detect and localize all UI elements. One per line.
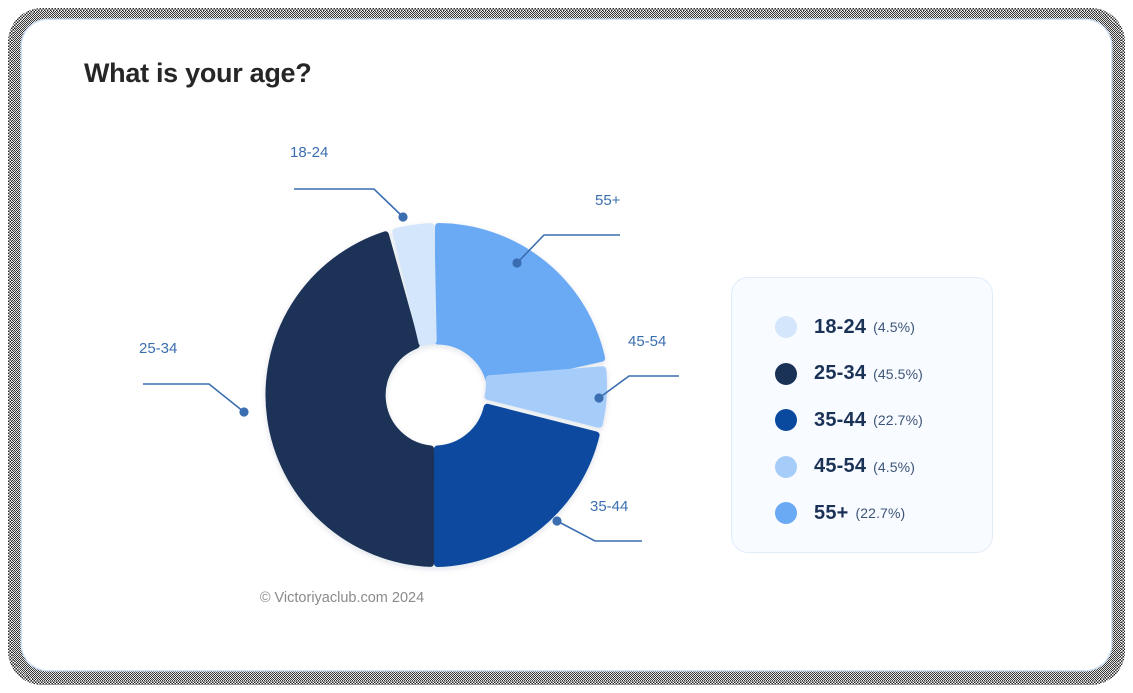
legend-swatch-icon <box>775 409 797 431</box>
legend-label: 25-34 <box>814 362 866 385</box>
legend-item-25-34[interactable]: 25-34 (45.5%) <box>732 351 992 398</box>
slice-35-44[interactable] <box>437 407 596 563</box>
legend-percent: (45.5%) <box>873 366 923 382</box>
legend-label: 55+ <box>814 502 849 525</box>
legend-percent: (22.7%) <box>856 505 906 521</box>
legend-item-35-44[interactable]: 35-44 (22.7%) <box>732 397 992 444</box>
legend-percent: (4.5%) <box>873 319 915 335</box>
legend-swatch-icon <box>775 363 797 385</box>
legend-item-55plus[interactable]: 55+ (22.7%) <box>732 490 992 537</box>
donut-slices <box>112 120 756 670</box>
callout-label-45-54: 45-54 <box>628 333 666 350</box>
legend-swatch-icon <box>775 456 797 478</box>
legend-percent: (22.7%) <box>873 412 923 428</box>
survey-result-card: What is your age? <box>22 20 1111 670</box>
legend-swatch-icon <box>775 316 797 338</box>
chart-legend: 18-24 (4.5%) 25-34 (45.5%) 35-44 (22.7%)… <box>731 277 993 553</box>
legend-item-18-24[interactable]: 18-24 (4.5%) <box>732 304 992 351</box>
slice-55plus[interactable] <box>438 227 602 384</box>
footer-credit: © Victoriyaclub.com 2024 <box>22 590 662 606</box>
callout-label-35-44: 35-44 <box>590 498 628 515</box>
legend-percent: (4.5%) <box>873 459 915 475</box>
legend-label: 35-44 <box>814 409 866 432</box>
legend-label: 45-54 <box>814 455 866 478</box>
callout-label-25-34: 25-34 <box>139 340 177 357</box>
legend-item-45-54[interactable]: 45-54 (4.5%) <box>732 444 992 491</box>
legend-label: 18-24 <box>814 316 866 339</box>
legend-swatch-icon <box>775 502 797 524</box>
callout-label-18-24: 18-24 <box>290 144 328 161</box>
callout-label-55plus: 55+ <box>595 192 620 209</box>
